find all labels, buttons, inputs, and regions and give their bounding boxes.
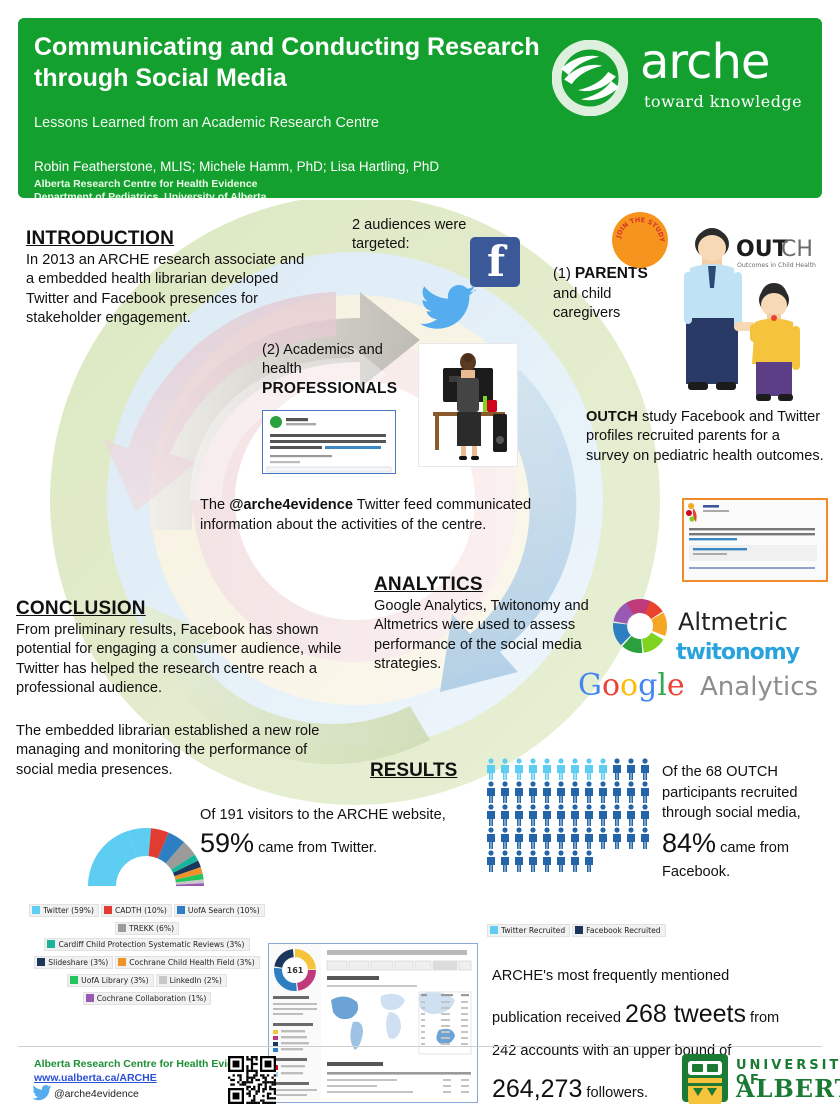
legend-label: Cardiff Child Protection Systematic Revi… bbox=[58, 940, 244, 949]
tweets-line-2-pre: publication received bbox=[492, 1010, 625, 1026]
footer-website-link[interactable]: www.ualberta.ca/ARCHE bbox=[34, 1072, 157, 1084]
person-icon bbox=[640, 781, 650, 803]
pictogram-row bbox=[486, 804, 661, 826]
person-icon bbox=[486, 827, 496, 849]
audience-1-label: (1) PARENTS and child caregivers bbox=[553, 264, 663, 323]
person-icon bbox=[542, 758, 552, 780]
twitter-feed-description: The @arche4evidence Twitter feed communi… bbox=[200, 496, 580, 535]
person-icon bbox=[570, 827, 580, 849]
person-icon bbox=[584, 758, 594, 780]
person-icon bbox=[542, 781, 552, 803]
person-icon bbox=[486, 804, 496, 826]
person-icon bbox=[528, 804, 538, 826]
person-icon bbox=[514, 804, 524, 826]
outch-caption-bold: OUTCH bbox=[586, 409, 638, 425]
person-icon bbox=[626, 781, 636, 803]
pictogram-row bbox=[486, 827, 661, 849]
people-percent: 84% bbox=[662, 828, 716, 858]
legend-swatch bbox=[118, 924, 126, 932]
google-wordmark: Google bbox=[578, 668, 685, 703]
audience-2-prefix: (2) Academics and health bbox=[262, 342, 383, 377]
audience-2-bold: PROFESSIONALS bbox=[262, 380, 397, 397]
person-icon bbox=[486, 781, 496, 803]
person-icon bbox=[612, 827, 622, 849]
participants-pictogram-chart bbox=[486, 758, 661, 873]
introduction-heading: INTRODUCTION bbox=[26, 228, 316, 250]
introduction-body: In 2013 an ARCHE research associate and … bbox=[26, 251, 316, 329]
legend-item: Twitter Recruited bbox=[487, 924, 570, 937]
introduction-section: INTRODUCTION In 2013 an ARCHE research a… bbox=[26, 228, 316, 329]
person-icon bbox=[514, 850, 524, 872]
analytics-heading: ANALYTICS bbox=[374, 574, 589, 596]
pictogram-row bbox=[486, 758, 661, 780]
person-icon bbox=[556, 827, 566, 849]
person-icon bbox=[542, 850, 552, 872]
arche-swirl-icon bbox=[552, 40, 628, 116]
qr-code-icon bbox=[228, 1056, 276, 1104]
legend-label: Twitter (59%) bbox=[43, 906, 94, 915]
poster-header: Communicating and Conducting Research th… bbox=[18, 18, 822, 198]
altmetric-donut-icon bbox=[612, 598, 668, 654]
donut-caption-post: came from Twitter. bbox=[254, 840, 377, 856]
legend-label: CADTH (10%) bbox=[115, 906, 167, 915]
person-icon bbox=[584, 850, 594, 872]
person-icon bbox=[626, 758, 636, 780]
legend-item: Cochrane Collaboration (1%) bbox=[83, 992, 212, 1005]
legend-item: CADTH (10%) bbox=[101, 904, 172, 917]
legend-swatch bbox=[490, 926, 498, 934]
feed-text-pre: The bbox=[200, 497, 229, 513]
person-icon bbox=[584, 827, 594, 849]
audience-1-rest: and child caregivers bbox=[553, 286, 620, 321]
parent-and-child-illustration bbox=[650, 222, 820, 407]
legend-item: Twitter (59%) bbox=[29, 904, 99, 917]
person-icon bbox=[542, 827, 552, 849]
legend-swatch bbox=[159, 976, 167, 984]
people-caption-pre: Of the 68 OUTCH participants recruited t… bbox=[662, 764, 801, 821]
person-icon bbox=[612, 781, 622, 803]
legend-item: LinkedIn (2%) bbox=[156, 974, 227, 987]
person-icon bbox=[556, 758, 566, 780]
legend-item: Cardiff Child Protection Systematic Revi… bbox=[44, 938, 249, 951]
legend-swatch bbox=[37, 958, 45, 966]
person-icon bbox=[500, 827, 510, 849]
person-icon bbox=[542, 804, 552, 826]
affiliation-line-1: Alberta Research Centre for Health Evide… bbox=[34, 178, 258, 190]
person-icon bbox=[486, 758, 496, 780]
pictogram-row bbox=[486, 850, 661, 872]
referral-sources-donut-chart bbox=[78, 798, 214, 894]
google-analytics-wordmark: Analytics bbox=[700, 672, 818, 702]
conclusion-heading: CONCLUSION bbox=[16, 598, 356, 620]
legend-label: Twitter Recruited bbox=[501, 926, 565, 935]
tweets-line-2-post: from bbox=[746, 1010, 779, 1026]
legend-label: UofA Library (3%) bbox=[81, 976, 148, 985]
conclusion-body: From preliminary results, Facebook has s… bbox=[16, 621, 356, 699]
audience-1-prefix: (1) bbox=[553, 266, 575, 282]
page-subtitle: Lessons Learned from an Academic Researc… bbox=[34, 115, 574, 131]
person-icon bbox=[500, 804, 510, 826]
legend-item: TREKK (6%) bbox=[115, 922, 179, 935]
analytics-section: ANALYTICS Google Analytics, Twitonomy an… bbox=[374, 574, 589, 675]
legend-row: Slideshare (3%)Cochrane Child Health Fie… bbox=[22, 955, 272, 971]
arche-wordmark: arche bbox=[640, 38, 769, 86]
legend-item: Facebook Recruited bbox=[572, 924, 665, 937]
arche-twitter-handle: @arche4evidence bbox=[229, 497, 353, 513]
person-icon bbox=[500, 781, 510, 803]
tweets-count: 268 tweets bbox=[625, 1000, 746, 1028]
arche-tweet-screenshot[interactable] bbox=[262, 410, 396, 474]
facebook-icon: f bbox=[470, 237, 520, 287]
conclusion-body-2: The embedded librarian established a new… bbox=[16, 722, 336, 780]
pictogram-row bbox=[486, 781, 661, 803]
person-icon bbox=[556, 781, 566, 803]
legend-swatch bbox=[47, 940, 55, 948]
pictogram-legend: Twitter RecruitedFacebook Recruited bbox=[486, 922, 667, 940]
footer-divider bbox=[18, 1046, 822, 1047]
person-icon bbox=[514, 827, 524, 849]
person-icon bbox=[570, 804, 580, 826]
ua-shield-icon bbox=[680, 1052, 730, 1104]
footer-organization: Alberta Research Centre for Health Evide… bbox=[34, 1058, 258, 1070]
legend-swatch bbox=[104, 906, 112, 914]
person-icon bbox=[556, 850, 566, 872]
donut-chart-legend: Twitter (59%)CADTH (10%)UofA Search (10%… bbox=[22, 903, 272, 1009]
person-icon bbox=[598, 827, 608, 849]
person-icon bbox=[500, 758, 510, 780]
legend-label: Slideshare (3%) bbox=[48, 958, 108, 967]
tweets-line-1: ARCHE's most frequently mentioned bbox=[492, 968, 729, 984]
legend-swatch bbox=[118, 958, 126, 966]
person-icon bbox=[598, 781, 608, 803]
person-icon bbox=[570, 781, 580, 803]
arche-tagline: toward knowledge bbox=[644, 92, 802, 111]
legend-label: Cochrane Collaboration (1%) bbox=[97, 994, 207, 1003]
conclusion-section: CONCLUSION From preliminary results, Fac… bbox=[16, 598, 356, 699]
donut-percent: 59% bbox=[200, 828, 254, 858]
university-of-alberta-logo: UNIVERSITY OF ALBERTA bbox=[680, 1052, 840, 1106]
legend-label: Facebook Recruited bbox=[586, 926, 660, 935]
legend-swatch bbox=[177, 906, 185, 914]
legend-item: Slideshare (3%) bbox=[34, 956, 113, 969]
person-icon bbox=[640, 827, 650, 849]
results-heading: RESULTS bbox=[370, 760, 457, 782]
person-icon bbox=[626, 804, 636, 826]
person-icon bbox=[500, 850, 510, 872]
person-icon bbox=[528, 758, 538, 780]
legend-item: UofA Library (3%) bbox=[67, 974, 153, 987]
pictogram-caption: Of the 68 OUTCH participants recruited t… bbox=[662, 762, 832, 883]
outch-facebook-post-screenshot[interactable] bbox=[682, 498, 828, 582]
svg-text:161: 161 bbox=[287, 966, 304, 975]
author-list: Robin Featherstone, MLIS; Michele Hamm, … bbox=[34, 159, 594, 174]
audience-2-label: (2) Academics and health PROFESSIONALS bbox=[262, 341, 402, 399]
legend-row: Twitter (59%)CADTH (10%)UofA Search (10%… bbox=[22, 903, 272, 919]
legend-swatch bbox=[86, 994, 94, 1002]
legend-swatch bbox=[575, 926, 583, 934]
affiliation-line-2: Department of Pediatrics, University of … bbox=[34, 191, 266, 198]
person-icon bbox=[528, 850, 538, 872]
legend-label: UofA Search (10%) bbox=[188, 906, 260, 915]
twitter-bird-icon-footer bbox=[32, 1085, 52, 1101]
person-icon bbox=[584, 804, 594, 826]
legend-label: TREKK (6%) bbox=[129, 924, 174, 933]
page-title: Communicating and Conducting Research th… bbox=[34, 32, 554, 93]
legend-row: Cochrane Collaboration (1%) bbox=[22, 991, 272, 1007]
twitter-bird-icon bbox=[420, 285, 476, 331]
person-icon bbox=[612, 804, 622, 826]
person-icon bbox=[556, 804, 566, 826]
legend-item: Cochrane Child Health Field (3%) bbox=[115, 956, 259, 969]
facebook-glyph: f bbox=[487, 241, 505, 283]
person-icon bbox=[528, 827, 538, 849]
arche-logo: arche toward knowledge bbox=[548, 36, 808, 126]
altmetric-wordmark: Altmetric bbox=[678, 608, 788, 636]
person-icon bbox=[570, 758, 580, 780]
person-icon bbox=[612, 758, 622, 780]
person-icon bbox=[598, 804, 608, 826]
legend-row: TREKK (6%)Cardiff Child Protection Syste… bbox=[22, 921, 272, 953]
legend-item: UofA Search (10%) bbox=[174, 904, 265, 917]
poster-footer: Alberta Research Centre for Health Evide… bbox=[18, 1050, 822, 1108]
analytics-body: Google Analytics, Twitonomy and Altmetri… bbox=[374, 597, 589, 675]
footer-twitter-handle: @arche4evidence bbox=[54, 1088, 139, 1100]
person-icon bbox=[570, 850, 580, 872]
legend-label: Cochrane Child Health Field (3%) bbox=[129, 958, 254, 967]
legend-swatch bbox=[70, 976, 78, 984]
academic-at-desk-image bbox=[418, 343, 518, 467]
person-icon bbox=[514, 781, 524, 803]
poster-canvas: Communicating and Conducting Research th… bbox=[0, 0, 840, 1120]
person-icon bbox=[640, 758, 650, 780]
person-icon bbox=[528, 781, 538, 803]
ua-line-2: ALBERTA bbox=[736, 1074, 840, 1103]
twitonomy-wordmark: twitonomy bbox=[676, 640, 799, 665]
legend-label: LinkedIn (2%) bbox=[170, 976, 222, 985]
person-icon bbox=[514, 758, 524, 780]
person-icon bbox=[640, 804, 650, 826]
legend-row: UofA Library (3%)LinkedIn (2%) bbox=[22, 973, 272, 989]
donut-caption-pre: Of 191 visitors to the ARCHE website, bbox=[200, 807, 446, 823]
donut-chart-caption: Of 191 visitors to the ARCHE website, 59… bbox=[200, 805, 480, 863]
outch-caption: OUTCH study Facebook and Twitter profile… bbox=[586, 408, 826, 466]
person-icon bbox=[626, 827, 636, 849]
person-icon bbox=[486, 850, 496, 872]
person-icon bbox=[584, 781, 594, 803]
legend-swatch bbox=[32, 906, 40, 914]
qr-code bbox=[228, 1056, 276, 1104]
person-icon bbox=[598, 758, 608, 780]
